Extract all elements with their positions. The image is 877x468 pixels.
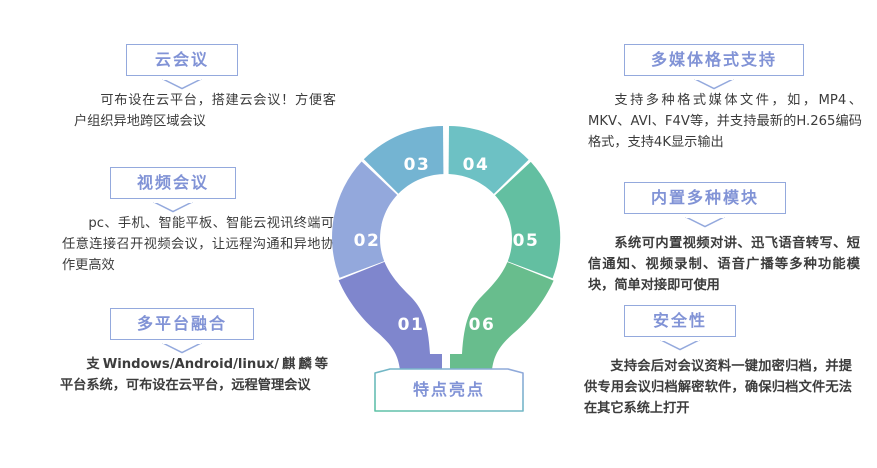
feature-title-label-5: 安全性 [653, 313, 707, 329]
feature-body-4: 系统可内置视频对讲、迅飞语音转写、短信通知、视频录制、语音广播等多种功能模块，简… [588, 234, 860, 297]
chip-notch-icon-3 [694, 75, 734, 86]
donut-segment-label-02: 02 [354, 231, 381, 251]
feature-title-label-2: 多平台融合 [137, 316, 227, 332]
lightbulb-donut-chart: 03 04 02 05 01 06 [330, 122, 562, 370]
center-caption-label: 特点亮点 [374, 368, 524, 412]
feature-title-label-1: 视频会议 [137, 175, 209, 191]
feature-block-builtin-modules: 内置多种模块 系统可内置视频对讲、迅飞语音转写、短信通知、视频录制、语音广播等多… [580, 182, 877, 297]
feature-title-chip-1[interactable]: 视频会议 [110, 167, 236, 199]
feature-title-chip-2[interactable]: 多平台融合 [110, 308, 254, 340]
feature-title-chip-0[interactable]: 云会议 [126, 44, 238, 76]
chip-notch-icon-1 [153, 198, 193, 209]
donut-segment-label-03: 03 [404, 155, 431, 175]
feature-title-chip-wrap-1: 视频会议 [48, 167, 348, 201]
feature-block-cloud-meeting: 云会议 可布设在云平台，搭建云会议！方便客户组织异地跨区域会议 [48, 44, 348, 133]
chip-notch-icon-4 [685, 213, 725, 224]
feature-title-chip-wrap-0: 云会议 [48, 44, 348, 78]
feature-title-chip-5[interactable]: 安全性 [624, 305, 736, 337]
feature-block-video-meeting: 视频会议 pc、手机、智能平板、智能云视讯终端可任意连接召开视频会议，让远程沟通… [48, 167, 348, 277]
feature-title-chip-wrap-4: 内置多种模块 [580, 182, 877, 216]
center-caption-box[interactable]: 特点亮点 [374, 368, 524, 412]
chip-notch-icon-0 [162, 75, 202, 86]
feature-title-chip-wrap-2: 多平台融合 [48, 308, 348, 342]
feature-title-label-3: 多媒体格式支持 [651, 52, 777, 68]
donut-segment-label-06: 06 [469, 315, 496, 335]
feature-body-5: 支持会后对会议资料一键加密归档，并提供专用会议归档解密软件，确保归档文件无法在其… [584, 357, 852, 420]
feature-title-chip-wrap-3: 多媒体格式支持 [580, 44, 877, 78]
feature-block-multi-platform: 多平台融合 支Windows/Android/linux/麒麟等平台系统，可布设… [48, 308, 348, 397]
feature-block-multimedia-format: 多媒体格式支持 支持多种格式媒体文件，如，MP4、MKV、AVI、F4V等，并支… [580, 44, 877, 154]
chip-notch-icon-5 [660, 336, 700, 347]
donut-segment-label-04: 04 [463, 155, 490, 175]
feature-body-3: 支持多种格式媒体文件，如，MP4、MKV、AVI、F4V等，并支持最新的H.26… [588, 91, 862, 154]
feature-body-1: pc、手机、智能平板、智能云视讯终端可任意连接召开视频会议，让远程沟通和异地协作… [62, 214, 334, 277]
feature-title-label-0: 云会议 [155, 52, 209, 68]
feature-body-0: 可布设在云平台，搭建云会议！方便客户组织异地跨区域会议 [74, 91, 336, 133]
feature-title-label-4: 内置多种模块 [651, 190, 759, 206]
infographic-canvas: 云会议 可布设在云平台，搭建云会议！方便客户组织异地跨区域会议 视频会议 [0, 0, 877, 468]
donut-segment-label-01: 01 [398, 315, 425, 335]
feature-block-security: 安全性 支持会后对会议资料一键加密归档，并提供专用会议归档解密软件，确保归档文件… [580, 305, 877, 420]
donut-segment-label-05: 05 [513, 231, 540, 251]
feature-title-chip-3[interactable]: 多媒体格式支持 [624, 44, 804, 76]
feature-body-2: 支Windows/Android/linux/麒麟等平台系统，可布设在云平台，远… [60, 355, 328, 397]
feature-title-chip-4[interactable]: 内置多种模块 [624, 182, 786, 214]
chip-notch-icon-2 [162, 339, 202, 350]
feature-title-chip-wrap-5: 安全性 [580, 305, 877, 339]
